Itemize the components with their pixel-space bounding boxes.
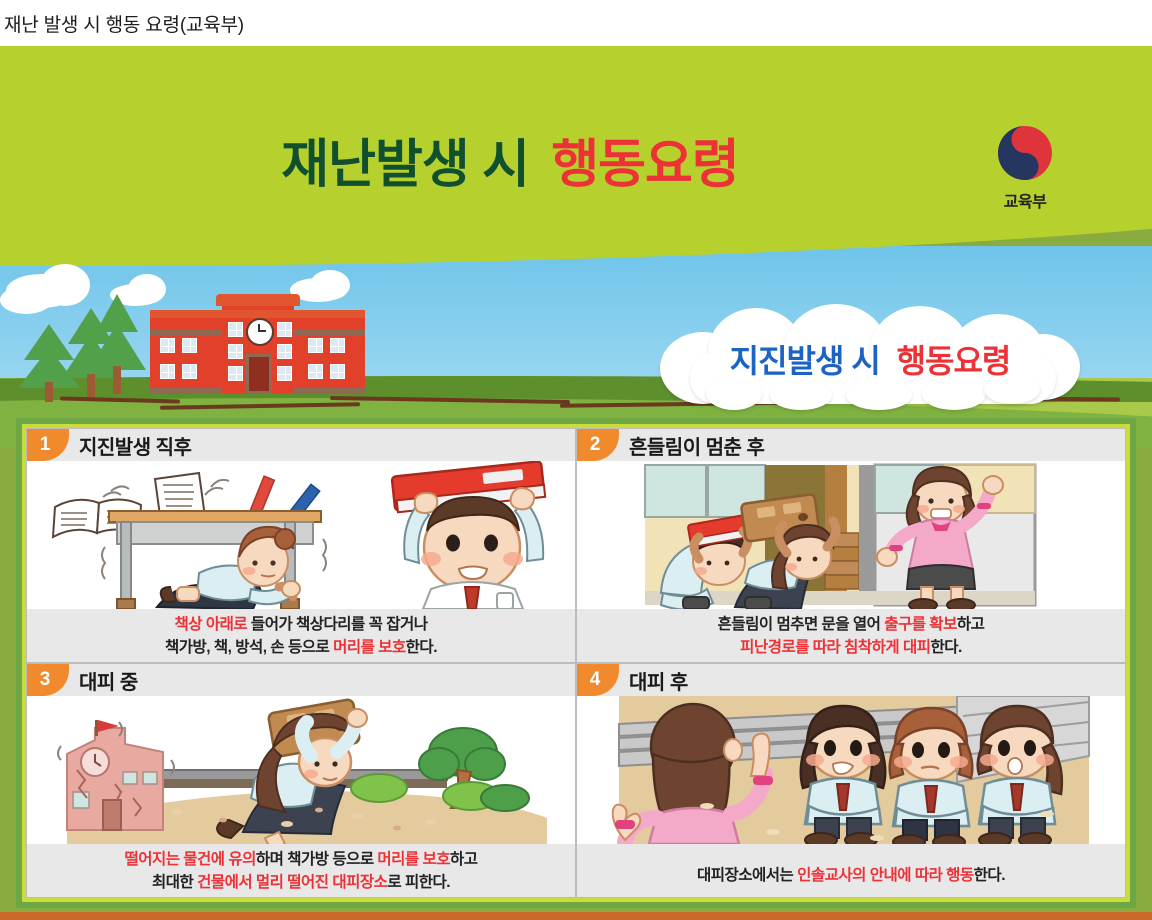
panel-4[interactable]: 4 대피 후 xyxy=(576,663,1126,898)
panel-2-header: 2 흔들림이 멈춘 후 xyxy=(577,429,1125,461)
panel-2[interactable]: 2 흔들림이 멈춘 후 xyxy=(576,428,1126,663)
panel-2-caption-line-1: 흔들림이 멈추면 문을 열어 출구를 확보하고 xyxy=(577,615,1125,636)
panel-2-caption-line-2: 피난경로를 따라 침착하게 대피한다. xyxy=(577,638,1125,659)
panel-3-header: 3 대피 중 xyxy=(27,664,575,696)
page-caption-bar: 재난 발생 시 행동 요령(교육부) xyxy=(0,0,1152,46)
caption-highlight: 책상 아래로 xyxy=(175,616,248,633)
panel-2-number: 2 xyxy=(577,429,619,461)
panel-4-caption: 대피장소에서는 인솔교사의 안내에 따라 행동한다. xyxy=(577,844,1125,887)
caption-text: 하고 xyxy=(450,851,478,868)
panel-3[interactable]: 3 대피 중 xyxy=(26,663,576,898)
ministry-logo: 교육부 xyxy=(975,122,1075,212)
caption-text: 흔들림이 멈추면 문을 열어 xyxy=(718,616,885,633)
student-under-desk-icon xyxy=(27,461,575,609)
caption-highlight: 출구를 확보 xyxy=(884,616,957,633)
caption-text: 하며 책가방 등으로 xyxy=(256,851,378,868)
speech-bubble: 지진발생 시 행동요령 xyxy=(660,304,1080,410)
caption-text: 한다. xyxy=(930,639,961,656)
student-evacuating-icon xyxy=(27,696,575,844)
panel-1-header: 1 지진발생 직후 xyxy=(27,429,575,461)
caption-text: 한다. xyxy=(974,867,1005,884)
footer-strip xyxy=(0,912,1152,920)
caption-highlight: 머리를 보호 xyxy=(377,851,450,868)
taegeuk-logo-icon xyxy=(994,122,1056,184)
panel-4-number: 4 xyxy=(577,664,619,696)
panels-frame: 1 지진발생 직후 xyxy=(16,418,1136,908)
caption-highlight: 건물에서 멀리 떨어진 대피장소 xyxy=(197,874,387,891)
panel-3-number: 3 xyxy=(27,664,69,696)
teacher-opening-door-icon xyxy=(577,461,1125,609)
pine-tree-icon xyxy=(88,294,146,402)
panel-1-number: 1 xyxy=(27,429,69,461)
poster-title-part2: 행동요령 xyxy=(551,136,738,194)
panel-4-title: 대피 후 xyxy=(629,666,688,695)
caption-text: 하고 xyxy=(957,616,985,633)
panel-2-title: 흔들림이 멈춘 후 xyxy=(629,431,764,460)
panel-4-header: 4 대피 후 xyxy=(577,664,1125,696)
ministry-logo-label: 교육부 xyxy=(975,188,1075,212)
caption-text: 들어가 책상다리를 꼭 잡거나 xyxy=(247,616,427,633)
caption-highlight: 떨어지는 물건에 유의 xyxy=(124,851,255,868)
caption-highlight: 피난경로를 따라 침착하게 대피 xyxy=(740,639,930,656)
panel-3-caption-line-2: 최대한 건물에서 멀리 떨어진 대피장소로 피한다. xyxy=(27,873,575,894)
speech-bubble-text: 지진발생 시 행동요령 xyxy=(660,336,1080,382)
caption-text: 대피장소에서는 xyxy=(697,867,797,884)
panel-3-title: 대피 중 xyxy=(79,666,138,695)
caption-highlight: 인솔교사의 안내에 따라 행동 xyxy=(797,867,974,884)
panel-1-caption-line-1: 책상 아래로 들어가 책상다리를 꼭 잡거나 xyxy=(27,615,575,636)
panel-3-caption: 떨어지는 물건에 유의하며 책가방 등으로 머리를 보호하고 최대한 건물에서 … xyxy=(27,844,575,894)
caption-text: 책가방, 책, 방석, 손 등으로 xyxy=(165,639,333,656)
caption-text: 한다. xyxy=(406,639,437,656)
poster-canvas: 재난발생 시 행동요령 교육부 xyxy=(0,46,1152,920)
page-caption: 재난 발생 시 행동 요령(교육부) xyxy=(4,10,244,37)
panel-3-caption-line-1: 떨어지는 물건에 유의하며 책가방 등으로 머리를 보호하고 xyxy=(27,850,575,871)
bubble-text-part1: 지진발생 시 xyxy=(730,343,880,379)
panel-2-caption: 흔들림이 멈추면 문을 열어 출구를 확보하고 피난경로를 따라 침착하게 대피… xyxy=(577,609,1125,659)
poster-title: 재난발생 시 행동요령 xyxy=(0,122,1020,197)
panel-1[interactable]: 1 지진발생 직후 xyxy=(26,428,576,663)
caption-text: 최대한 xyxy=(152,874,197,891)
clock-icon xyxy=(246,318,274,346)
school-building-icon xyxy=(150,296,365,401)
caption-text: 로 피한다. xyxy=(387,874,450,891)
panel-1-caption-line-2: 책가방, 책, 방석, 손 등으로 머리를 보호한다. xyxy=(27,638,575,659)
panel-4-caption-line-1: 대피장소에서는 인솔교사의 안내에 따라 행동한다. xyxy=(577,866,1125,887)
caption-highlight: 머리를 보호 xyxy=(333,639,406,656)
panel-1-title: 지진발생 직후 xyxy=(79,431,191,460)
bubble-text-part2: 행동요령 xyxy=(897,343,1011,379)
poster-title-part1: 재난발생 시 xyxy=(281,136,529,194)
panel-1-caption: 책상 아래로 들어가 책상다리를 꼭 잡거나 책가방, 책, 방석, 손 등으로… xyxy=(27,609,575,659)
teacher-instructing-students-icon xyxy=(577,696,1125,844)
